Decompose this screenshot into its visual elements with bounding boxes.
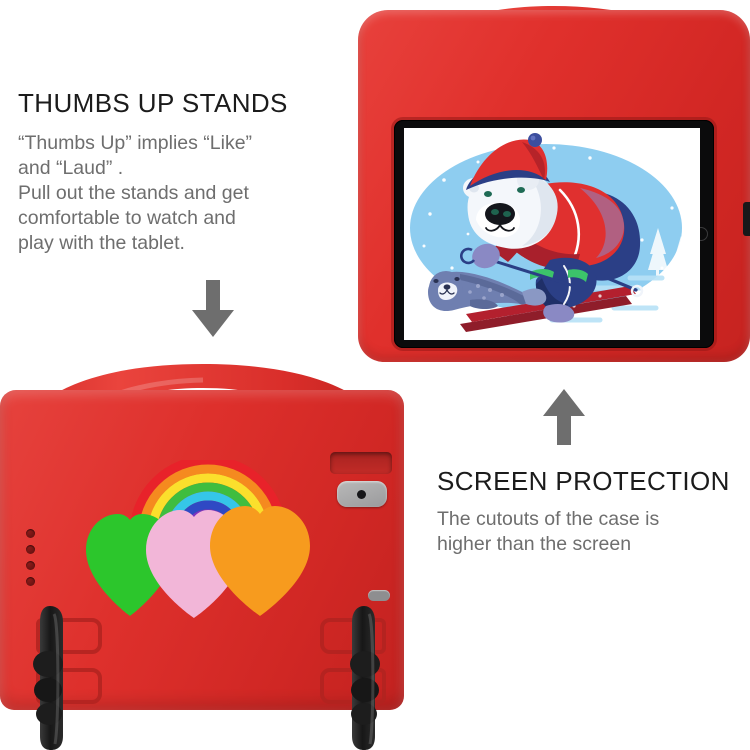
thumbs-up-stand-left[interactable] <box>30 604 86 750</box>
volume-button-cutout <box>368 590 390 601</box>
speaker-hole <box>26 545 35 554</box>
speaker-hole <box>26 577 35 586</box>
thumbs-up-stands-description: “Thumbs Up” implies “Like” and “Laud” . … <box>18 131 378 256</box>
rainbow-hearts-artwork <box>84 498 328 618</box>
tablet-front-in-case <box>358 2 750 362</box>
speaker-hole <box>26 561 35 570</box>
screen-protection-heading: SCREEN PROTECTION <box>437 466 730 497</box>
screen-protection-description: The cutouts of the case is higher than t… <box>437 507 747 557</box>
arrow-up-icon <box>541 388 587 446</box>
screen-illustration-area <box>404 128 700 340</box>
polar-bear-skiing-illustration <box>404 128 700 340</box>
infographic-canvas: THUMBS UP STANDS “Thumbs Up” implies “Li… <box>0 0 750 750</box>
power-button-cutout <box>743 202 750 236</box>
heart-orange <box>210 506 310 616</box>
thumbs-up-stands-heading: THUMBS UP STANDS <box>18 88 288 119</box>
rear-camera-cutout <box>337 481 387 507</box>
arrow-down-icon <box>190 280 236 338</box>
speaker-hole <box>26 529 35 538</box>
tablet-screen <box>394 120 714 348</box>
camera-slot-cutout <box>330 452 392 474</box>
thumbs-up-stand-right[interactable] <box>330 604 386 750</box>
camera-lens-icon <box>357 490 366 499</box>
